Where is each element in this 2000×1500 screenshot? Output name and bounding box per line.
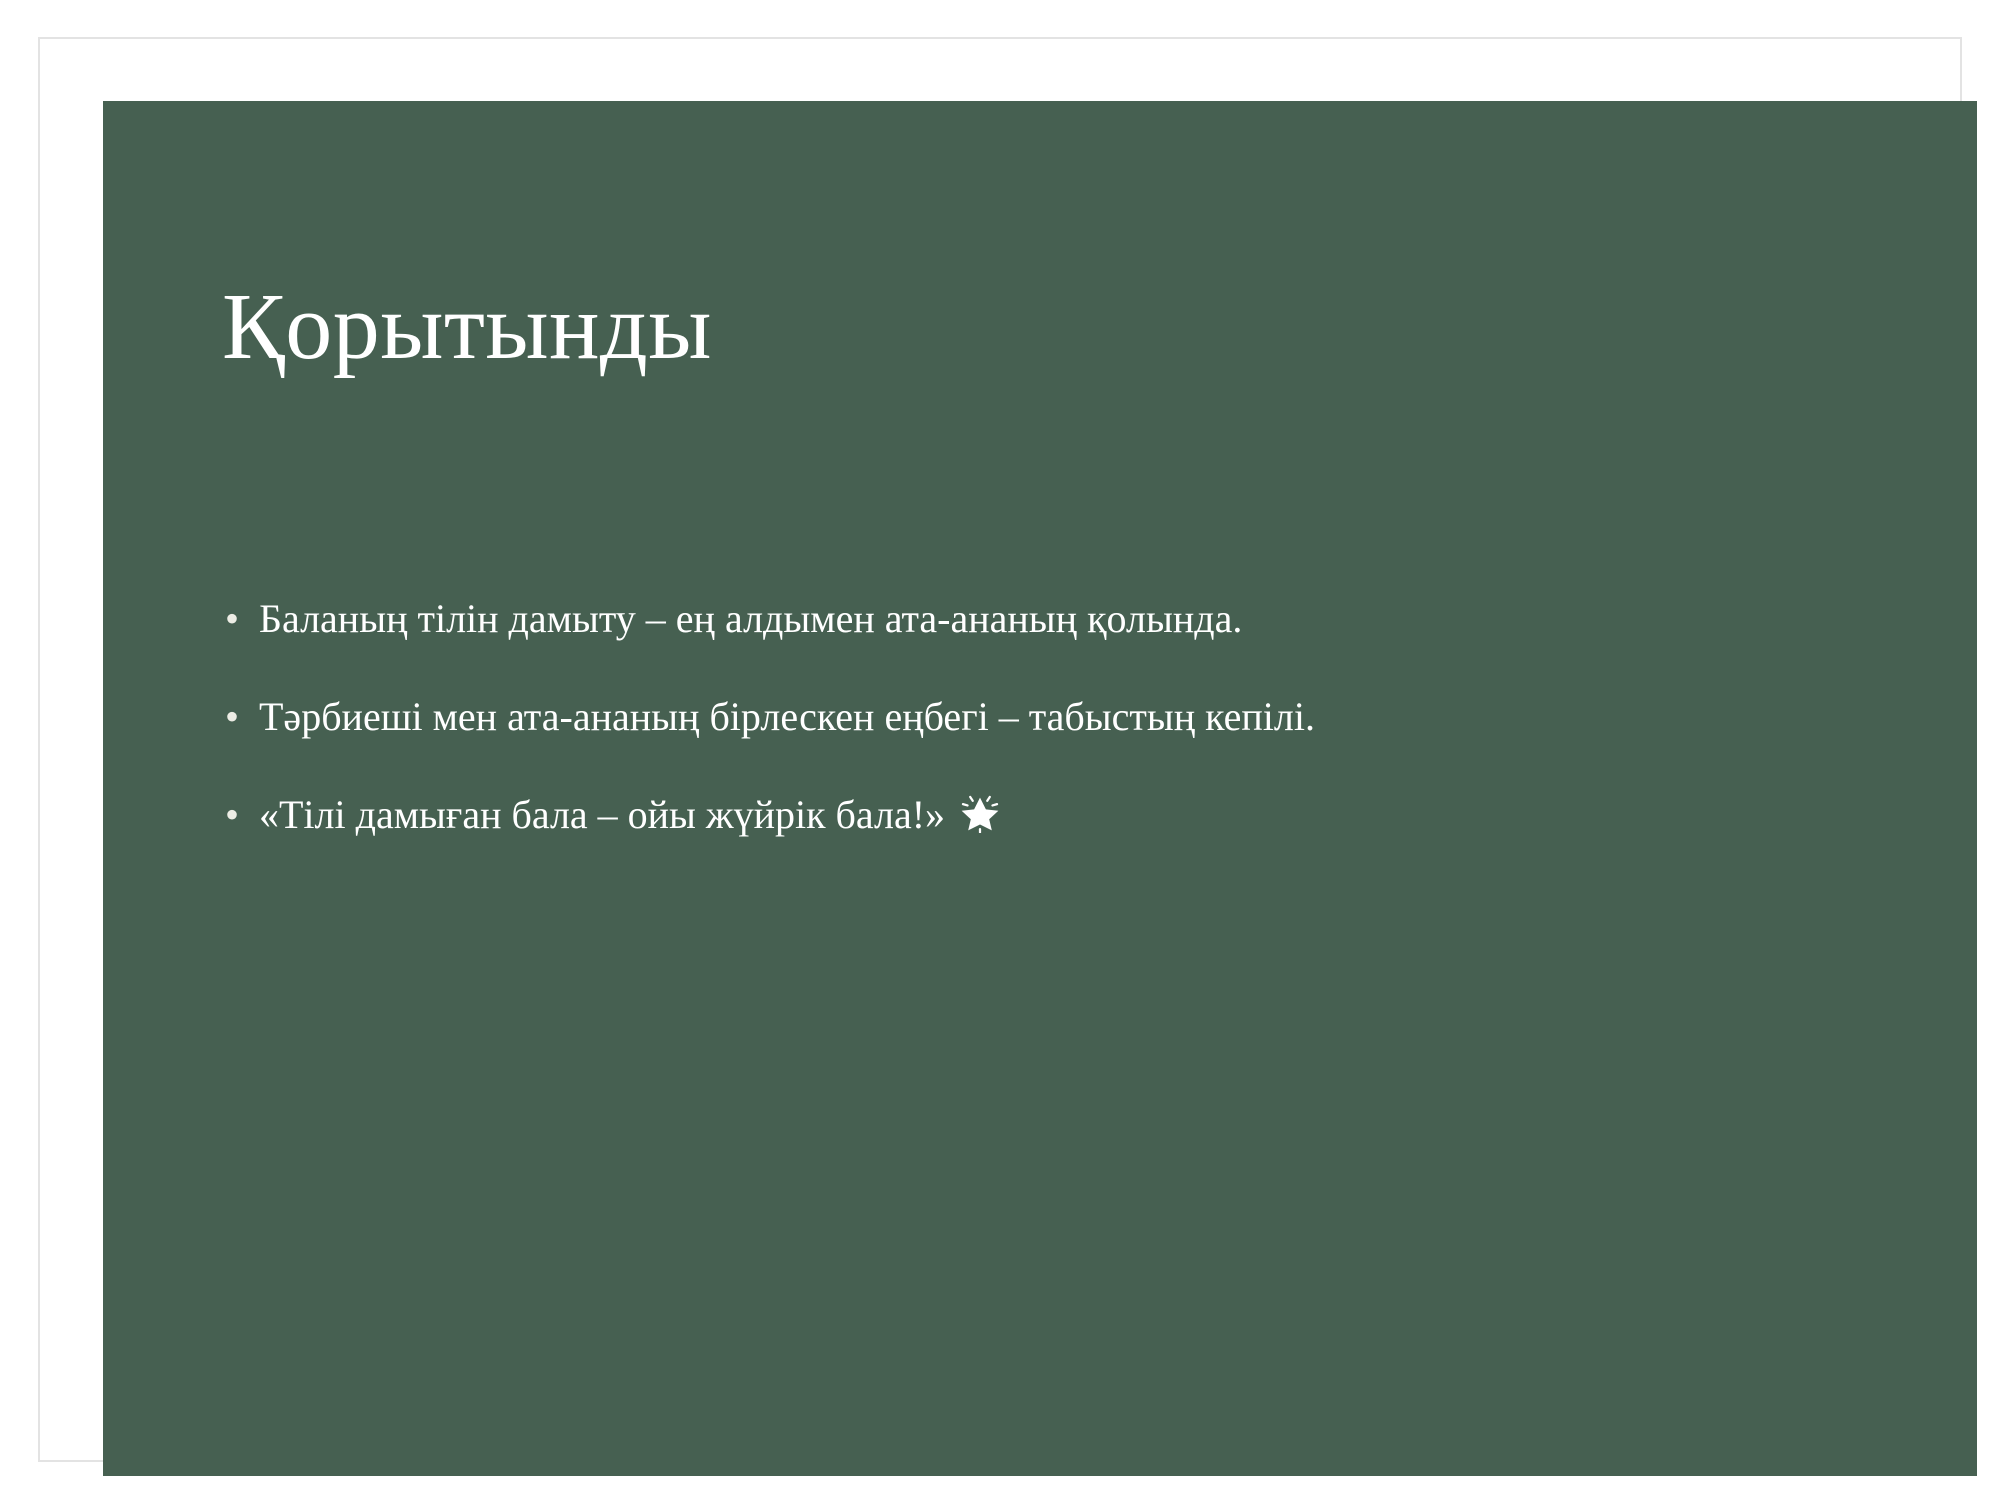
slide-frame: Қорытынды • Баланың тілін дамыту – ең ал…	[38, 37, 1962, 1462]
bullet-list: • Баланың тілін дамыту – ең алдымен ата-…	[213, 595, 1913, 839]
slide-title: Қорытынды	[222, 273, 1822, 381]
bullet-item-2: • Тәрбиеші мен ата-ананың бірлескен еңбе…	[213, 693, 1913, 742]
bullet-item-1: • Баланың тілін дамыту – ең алдымен ата-…	[213, 595, 1913, 644]
slide-canvas: Қорытынды • Баланың тілін дамыту – ең ал…	[103, 101, 1977, 1476]
bullet-marker-icon: •	[213, 693, 259, 742]
bullet-marker-icon: •	[213, 791, 259, 840]
bullet-marker-icon: •	[213, 595, 259, 644]
bullet-text-1: Баланың тілін дамыту – ең алдымен ата-ан…	[259, 595, 1242, 644]
bullet-text-3: «Тілі дамыған бала – ойы жүйрік бала!»	[259, 791, 945, 840]
bullet-item-3: • «Тілі дамыған бала – ойы жүйрік бала!»	[213, 791, 1913, 840]
bullet-text-2: Тәрбиеші мен ата-ананың бірлескен еңбегі…	[259, 693, 1315, 742]
glowing-star-icon	[959, 791, 1001, 833]
